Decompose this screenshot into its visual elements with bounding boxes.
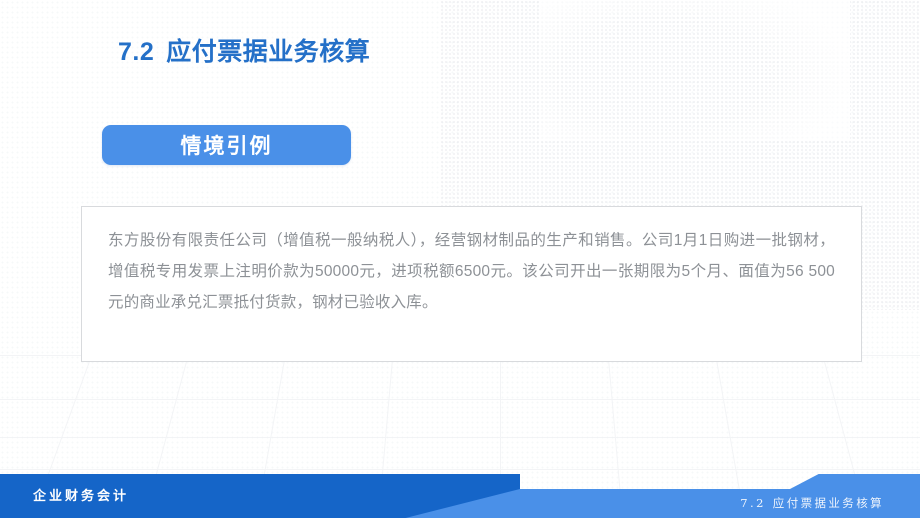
- section-badge-label: 情境引例: [181, 130, 273, 160]
- footer-course-title: 企业财务会计: [33, 485, 129, 504]
- slide-root: 7.2应付票据业务核算 情境引例 东方股份有限责任公司（增值税一般纳税人），经营…: [0, 0, 920, 518]
- footer-section-number: 7.2: [740, 496, 766, 510]
- page-title-text: 应付票据业务核算: [166, 38, 370, 66]
- footer-accent-shape: [790, 474, 920, 489]
- footer-section-label: 7.2应付票据业务核算: [740, 495, 884, 511]
- slide-footer: 企业财务会计 7.2应付票据业务核算: [0, 474, 920, 518]
- content-card-body: 东方股份有限责任公司（增值税一般纳税人），经营钢材制品的生产和销售。公司1月1日…: [82, 207, 861, 318]
- content-card: 东方股份有限责任公司（增值税一般纳税人），经营钢材制品的生产和销售。公司1月1日…: [81, 206, 862, 362]
- footer-section-title: 应付票据业务核算: [773, 496, 884, 510]
- scenario-paragraph: 东方股份有限责任公司（增值税一般纳税人），经营钢材制品的生产和销售。公司1月1日…: [108, 225, 835, 318]
- page-title-number: 7.2: [118, 38, 154, 66]
- page-title: 7.2应付票据业务核算: [118, 32, 370, 68]
- section-badge: 情境引例: [102, 125, 351, 165]
